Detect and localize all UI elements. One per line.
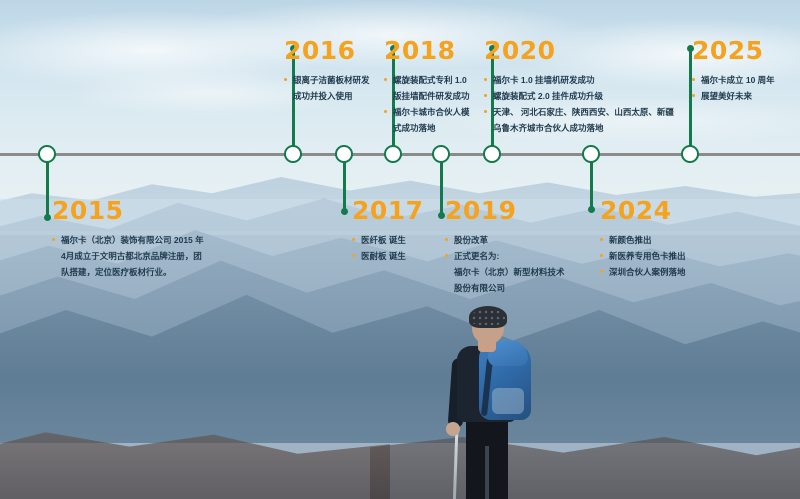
hiker-figure xyxy=(432,306,550,499)
timeline-entry-2016[interactable]: 2016银离子洁菌板材研发成功并投入使用 xyxy=(284,38,370,104)
timeline-stem-dot-2017 xyxy=(341,208,348,215)
timeline-infographic: 2015福尔卡（北京）装饰有限公司 2015 年4月成立于文明古都北京品牌注册，… xyxy=(0,0,800,499)
timeline-node-2024[interactable] xyxy=(582,145,600,163)
timeline-node-2020[interactable] xyxy=(483,145,501,163)
hiker-hand xyxy=(446,422,460,436)
timeline-bullet: 正式更名为: xyxy=(445,248,565,264)
timeline-bullet-list-2016: 银离子洁菌板材研发成功并投入使用 xyxy=(284,72,370,104)
timeline-bullet: 4月成立于文明古都北京品牌注册，团 xyxy=(52,248,204,264)
timeline-bullet-list-2024: 新颜色推出新医养专用色卡推出深圳合伙人案例落地 xyxy=(600,232,686,280)
timeline-bullet-list-2025: 福尔卡成立 10 周年展望美好未来 xyxy=(692,72,775,104)
timeline-bullet-list-2015: 福尔卡（北京）装饰有限公司 2015 年4月成立于文明古都北京品牌注册，团队搭建… xyxy=(52,232,204,280)
trekking-pole xyxy=(453,432,459,499)
timeline-node-2016[interactable] xyxy=(284,145,302,163)
timeline-bullet-list-2018: 螺旋装配式专利 1.0版挂墙配件研发成功福尔卡城市合伙人模式成功落地 xyxy=(384,72,470,136)
timeline-bullet: 银离子洁菌板材研发 xyxy=(284,72,370,88)
timeline-bullet: 深圳合伙人案例落地 xyxy=(600,264,686,280)
timeline-bullet: 队搭建，定位医疗板材行业。 xyxy=(52,264,204,280)
timeline-bullet: 新颜色推出 xyxy=(600,232,686,248)
timeline-bullet: 医纤板 诞生 xyxy=(352,232,424,248)
timeline-bullet: 式成功落地 xyxy=(384,120,470,136)
timeline-node-2018[interactable] xyxy=(384,145,402,163)
hiker-leg-split xyxy=(485,446,489,499)
timeline-stem-dot-2019 xyxy=(438,212,445,219)
timeline-entry-2017[interactable]: 2017医纤板 诞生医耐板 诞生 xyxy=(352,198,424,264)
timeline-stem-2015 xyxy=(46,154,49,218)
timeline-bullet: 福尔卡（北京）装饰有限公司 2015 年 xyxy=(52,232,204,248)
timeline-year-label-2025: 2025 xyxy=(692,38,775,63)
timeline-node-2019[interactable] xyxy=(432,145,450,163)
timeline-year-label-2018: 2018 xyxy=(384,38,470,63)
timeline-year-label-2016: 2016 xyxy=(284,38,370,63)
timeline-stem-dot-2015 xyxy=(44,214,51,221)
timeline-bullet-list-2019: 股份改革正式更名为:福尔卡（北京）新型材料技术股份有限公司 xyxy=(445,232,565,296)
timeline-entry-2024[interactable]: 2024新颜色推出新医养专用色卡推出深圳合伙人案例落地 xyxy=(600,198,686,280)
timeline-bullet: 新医养专用色卡推出 xyxy=(600,248,686,264)
timeline-bullet: 福尔卡（北京）新型材料技术 xyxy=(445,264,565,280)
timeline-stem-2019 xyxy=(440,154,443,216)
timeline-bullet: 展望美好未来 xyxy=(692,88,775,104)
timeline-bullet: 版挂墙配件研发成功 xyxy=(384,88,470,104)
timeline-bullet: 螺旋装配式专利 1.0 xyxy=(384,72,470,88)
timeline-bullet: 福尔卡城市合伙人模 xyxy=(384,104,470,120)
beanie-pattern xyxy=(471,309,505,325)
timeline-entry-2018[interactable]: 2018螺旋装配式专利 1.0版挂墙配件研发成功福尔卡城市合伙人模式成功落地 xyxy=(384,38,470,136)
timeline-bullet: 医耐板 诞生 xyxy=(352,248,424,264)
timeline-bullet-list-2017: 医纤板 诞生医耐板 诞生 xyxy=(352,232,424,264)
timeline-bullet: 成功并投入使用 xyxy=(284,88,370,104)
timeline-node-2015[interactable] xyxy=(38,145,56,163)
timeline-entry-2025[interactable]: 2025福尔卡成立 10 周年展望美好未来 xyxy=(692,38,775,104)
timeline-bullet: 股份改革 xyxy=(445,232,565,248)
timeline-bullet: 乌鲁木齐城市合伙人成功落地 xyxy=(484,120,674,136)
timeline-stem-dot-2024 xyxy=(588,206,595,213)
timeline-node-2017[interactable] xyxy=(335,145,353,163)
backpack-pocket xyxy=(492,388,524,414)
timeline-year-label-2019: 2019 xyxy=(445,198,565,223)
timeline-year-label-2015: 2015 xyxy=(52,198,204,223)
timeline-entry-2020[interactable]: 2020福尔卡 1.0 挂墙机研发成功螺旋装配式 2.0 挂件成功升级天津、 河… xyxy=(484,38,674,136)
timeline-entry-2019[interactable]: 2019股份改革正式更名为:福尔卡（北京）新型材料技术股份有限公司 xyxy=(445,198,565,296)
timeline-bullet: 福尔卡成立 10 周年 xyxy=(692,72,775,88)
timeline-entry-2015[interactable]: 2015福尔卡（北京）装饰有限公司 2015 年4月成立于文明古都北京品牌注册，… xyxy=(52,198,204,280)
timeline-year-label-2020: 2020 xyxy=(484,38,674,63)
timeline-year-label-2024: 2024 xyxy=(600,198,686,223)
timeline-node-2025[interactable] xyxy=(681,145,699,163)
timeline-bullet: 螺旋装配式 2.0 挂件成功升级 xyxy=(484,88,674,104)
timeline-year-label-2017: 2017 xyxy=(352,198,424,223)
timeline-bullet: 福尔卡 1.0 挂墙机研发成功 xyxy=(484,72,674,88)
timeline-bullet: 股份有限公司 xyxy=(445,280,565,296)
timeline-bullet: 天津、 河北石家庄、陕西西安、山西太原、新疆 xyxy=(484,104,674,120)
timeline-bullet-list-2020: 福尔卡 1.0 挂墙机研发成功螺旋装配式 2.0 挂件成功升级天津、 河北石家庄… xyxy=(484,72,674,136)
